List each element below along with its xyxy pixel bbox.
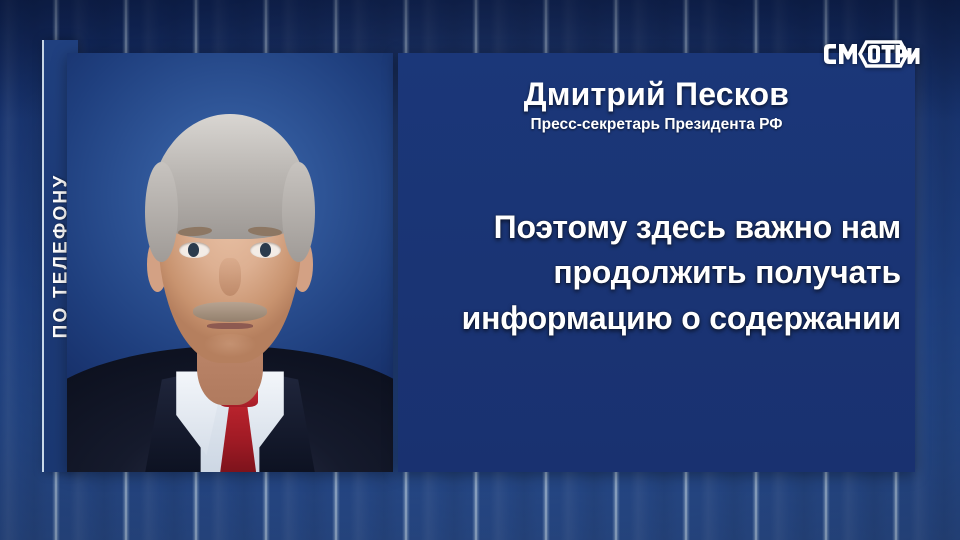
moustache [193,302,268,321]
broadcast-lower-third: ПО ТЕЛЕФОНУ [0,0,960,540]
nose [219,258,242,296]
speaker-name: Дмитрий Песков [398,76,915,113]
hair-side-left [145,162,178,263]
smotrim-logo [822,39,922,69]
speaker-portrait-panel [67,53,393,472]
pupil-right [260,243,271,256]
quote-line: продолжить получать [418,250,901,295]
quote-text: Поэтому здесь важно нам продолжить получ… [418,205,901,341]
speaker-figure [67,53,393,472]
mouth [207,323,253,329]
quote-line: информацию о содержании [418,296,901,341]
smotrim-logo-icon [822,39,922,69]
chin [201,334,260,359]
speaker-photo [67,53,393,472]
speaker-role: Пресс-секретарь Президента РФ [398,116,915,134]
quote-panel: Дмитрий Песков Пресс-секретарь Президент… [398,53,915,472]
pupil-left [188,243,199,256]
hair-side-right [282,162,315,263]
quote-line: Поэтому здесь важно нам [418,205,901,250]
